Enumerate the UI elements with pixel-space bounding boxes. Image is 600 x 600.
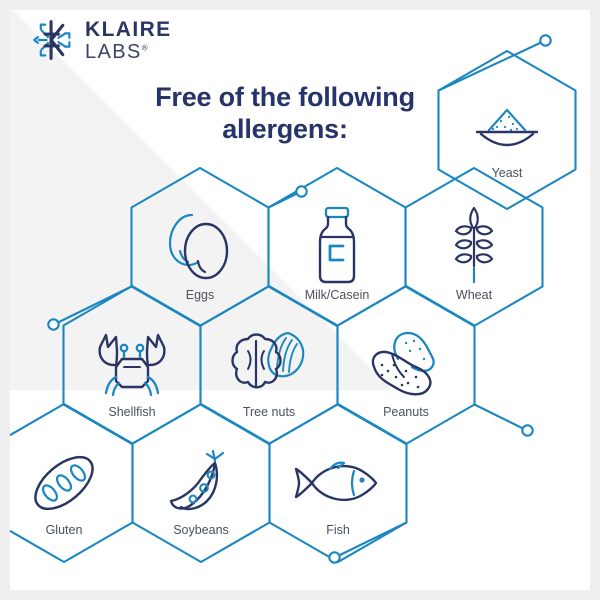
klaire-snowflake-k-mark [32, 18, 76, 62]
allergen-label-soybeans: Soybeans [173, 523, 229, 537]
peanut-icon [362, 327, 450, 403]
milk-bottle-icon [308, 204, 366, 290]
yeast-bowl-icon [469, 100, 545, 160]
allergen-label-peanuts: Peanuts [383, 405, 429, 419]
allergen-label-fish: Fish [326, 523, 350, 537]
allergen-label-shellfish: Shellfish [108, 405, 155, 419]
title-line-1: Free of the following [70, 82, 500, 114]
allergen-label-wheat: Wheat [456, 288, 492, 302]
soy-pod-icon [157, 443, 245, 523]
brand-wordmark: KLAIRE LABS® [85, 19, 172, 62]
infographic-canvas: KLAIRE LABS® Free of the following aller… [10, 10, 590, 590]
walnut-almond-icon [226, 327, 312, 403]
fish-icon [290, 449, 386, 517]
title-line-2: allergens: [70, 114, 500, 146]
allergen-label-treenuts: Tree nuts [243, 405, 295, 419]
brand-name-line1: KLAIRE [85, 19, 172, 40]
allergen-label-eggs: Eggs [186, 288, 215, 302]
brand-name-line2: LABS® [85, 42, 172, 62]
allergen-label-yeast: Yeast [492, 166, 523, 180]
bread-slice-icon [24, 443, 104, 523]
allergen-label-milk: Milk/Casein [305, 288, 370, 302]
page-title: Free of the following allergens: [70, 82, 500, 146]
crab-icon [86, 327, 178, 403]
registered-mark: ® [142, 43, 149, 52]
allergen-label-gluten: Gluten [46, 523, 83, 537]
eggs-icon [162, 207, 238, 287]
brand-logo[interactable]: KLAIRE LABS® [32, 18, 172, 62]
wheat-stalk-icon [444, 204, 504, 290]
